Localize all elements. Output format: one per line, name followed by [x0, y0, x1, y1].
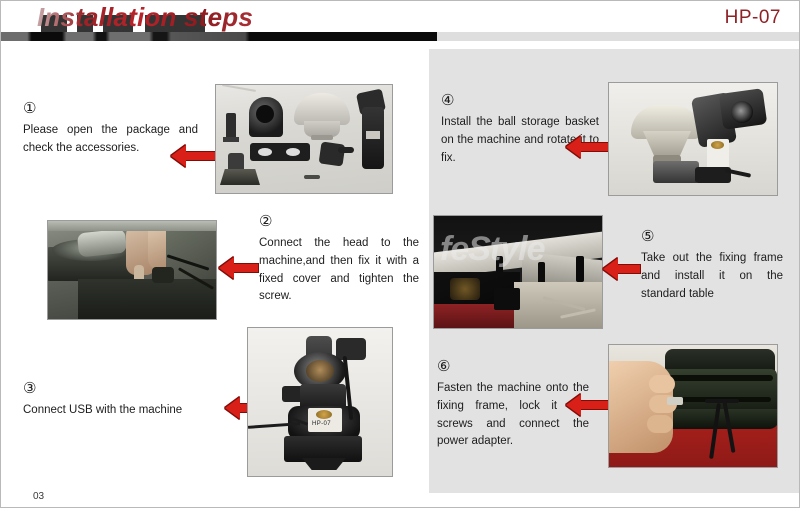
installation-steps-page: Installation steps HP-07 ① Please open t… [0, 0, 800, 508]
step-5: ⑤ Take out the fixing frame and install … [641, 229, 783, 303]
step-5-text: Take out the fixing frame and install it… [641, 250, 783, 303]
step-2-text: Connect the head to the machine,and then… [259, 235, 419, 306]
step-3-text: Connect USB with the machine [23, 402, 223, 420]
step-2: ② Connect the head to the machine,and th… [259, 214, 419, 306]
ball-storage-basket-photo [608, 82, 778, 196]
fasten-machine-photo [608, 344, 778, 468]
fixing-frame-photo: feStyle [433, 215, 603, 329]
page-number: 03 [33, 491, 44, 502]
package-accessories-photo [215, 84, 393, 194]
connect-head-photo [47, 220, 217, 320]
step-6-number: ⑥ [437, 359, 589, 374]
step-5-number: ⑤ [641, 229, 783, 244]
machine-model-label: HP-07 [312, 421, 331, 427]
header-rule-dark [1, 32, 437, 41]
step-3-number: ③ [23, 381, 223, 396]
step-1-number: ① [23, 101, 198, 116]
step-3: ③ Connect USB with the machine [23, 381, 223, 420]
step-4-number: ④ [441, 93, 599, 108]
model-label: HP-07 [725, 7, 781, 29]
machine-usb-photo: HP-07 [247, 327, 393, 477]
page-header: Installation steps HP-07 [1, 1, 799, 49]
page-title: Installation steps [37, 2, 253, 33]
step-2-number: ② [259, 214, 419, 229]
